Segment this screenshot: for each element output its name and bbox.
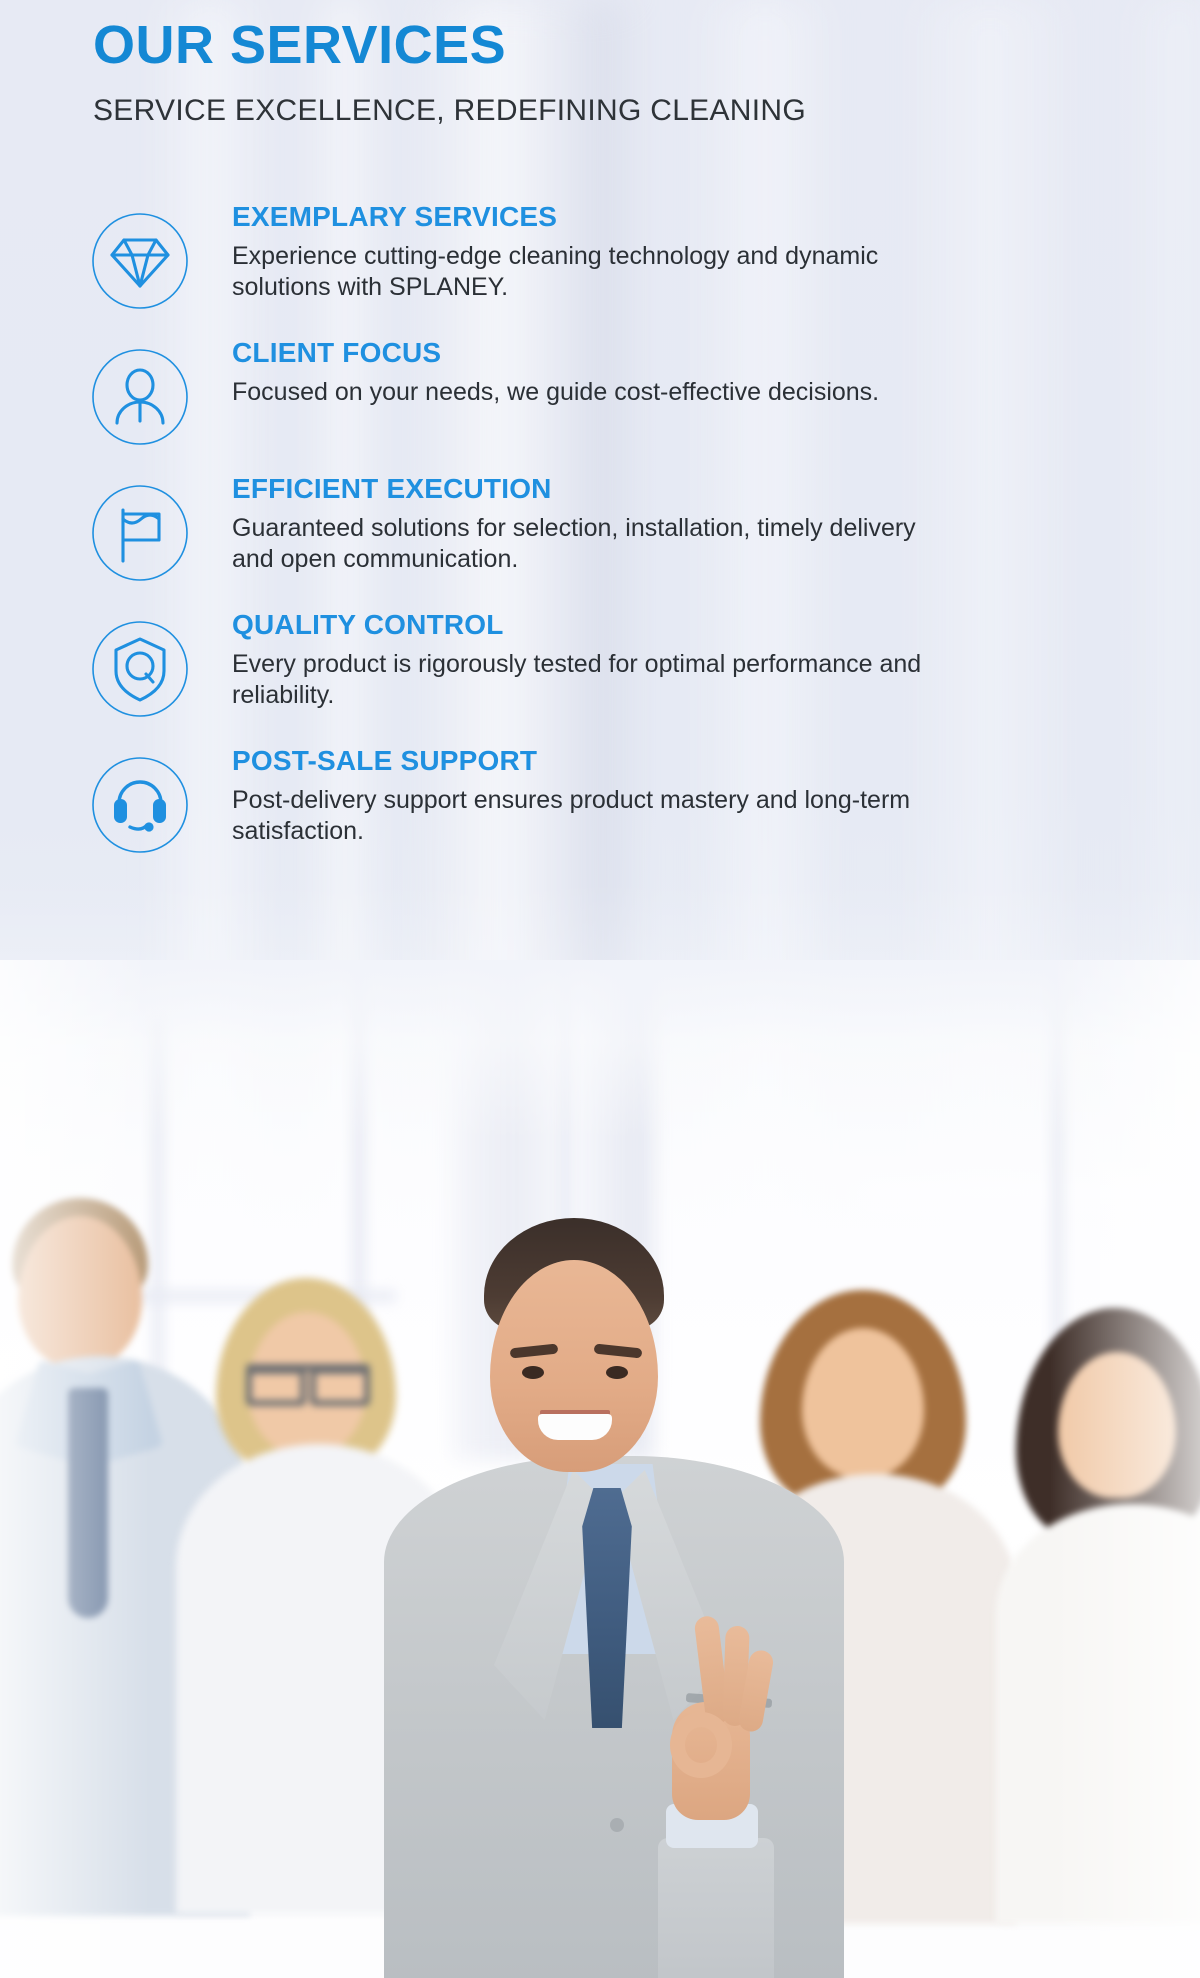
service-text-block: QUALITY CONTROL Every product is rigorou… (190, 605, 1100, 712)
photo-right-fade (1050, 960, 1200, 1978)
person-icon (90, 347, 190, 447)
service-title: EFFICIENT EXECUTION (232, 473, 1100, 505)
page-title: OUR SERVICES (93, 18, 1093, 72)
shield-q-icon (90, 619, 190, 719)
service-title: CLIENT FOCUS (232, 337, 1100, 369)
service-item-post-sale-support[interactable]: POST-SALE SUPPORT Post-delivery support … (90, 741, 1100, 855)
page-header: OUR SERVICES SERVICE EXCELLENCE, REDEFIN… (93, 18, 1093, 128)
service-text-block: CLIENT FOCUS Focused on your needs, we g… (190, 333, 1100, 408)
service-description: Experience cutting-edge cleaning technol… (232, 241, 922, 304)
diamond-icon (90, 211, 190, 311)
service-item-quality-control[interactable]: QUALITY CONTROL Every product is rigorou… (90, 605, 1100, 719)
services-list: EXEMPLARY SERVICES Experience cutting-ed… (90, 197, 1100, 877)
service-text-block: POST-SALE SUPPORT Post-delivery support … (190, 741, 1100, 848)
service-title: QUALITY CONTROL (232, 609, 1100, 641)
service-description: Focused on your needs, we guide cost-eff… (232, 377, 922, 408)
headset-icon (90, 755, 190, 855)
team-photo (0, 960, 1200, 1978)
service-title: POST-SALE SUPPORT (232, 745, 1100, 777)
service-text-block: EXEMPLARY SERVICES Experience cutting-ed… (190, 197, 1100, 304)
ok-gesture-hand (656, 1616, 766, 1826)
service-title: EXEMPLARY SERVICES (232, 201, 1100, 233)
service-item-efficient-execution[interactable]: EFFICIENT EXECUTION Guaranteed solutions… (90, 469, 1100, 583)
service-item-exemplary-services[interactable]: EXEMPLARY SERVICES Experience cutting-ed… (90, 197, 1100, 311)
service-description: Guaranteed solutions for selection, inst… (232, 513, 922, 576)
service-description: Every product is rigorously tested for o… (232, 649, 922, 712)
photo-top-fade (0, 960, 1200, 1140)
flag-icon (90, 483, 190, 583)
page-subtitle: SERVICE EXCELLENCE, REDEFINING CLEANING (93, 94, 1093, 128)
foreground-businessman (398, 1218, 828, 1978)
service-text-block: EFFICIENT EXECUTION Guaranteed solutions… (190, 469, 1100, 576)
service-item-client-focus[interactable]: CLIENT FOCUS Focused on your needs, we g… (90, 333, 1100, 447)
service-description: Post-delivery support ensures product ma… (232, 785, 922, 848)
photo-left-fade (0, 960, 150, 1978)
